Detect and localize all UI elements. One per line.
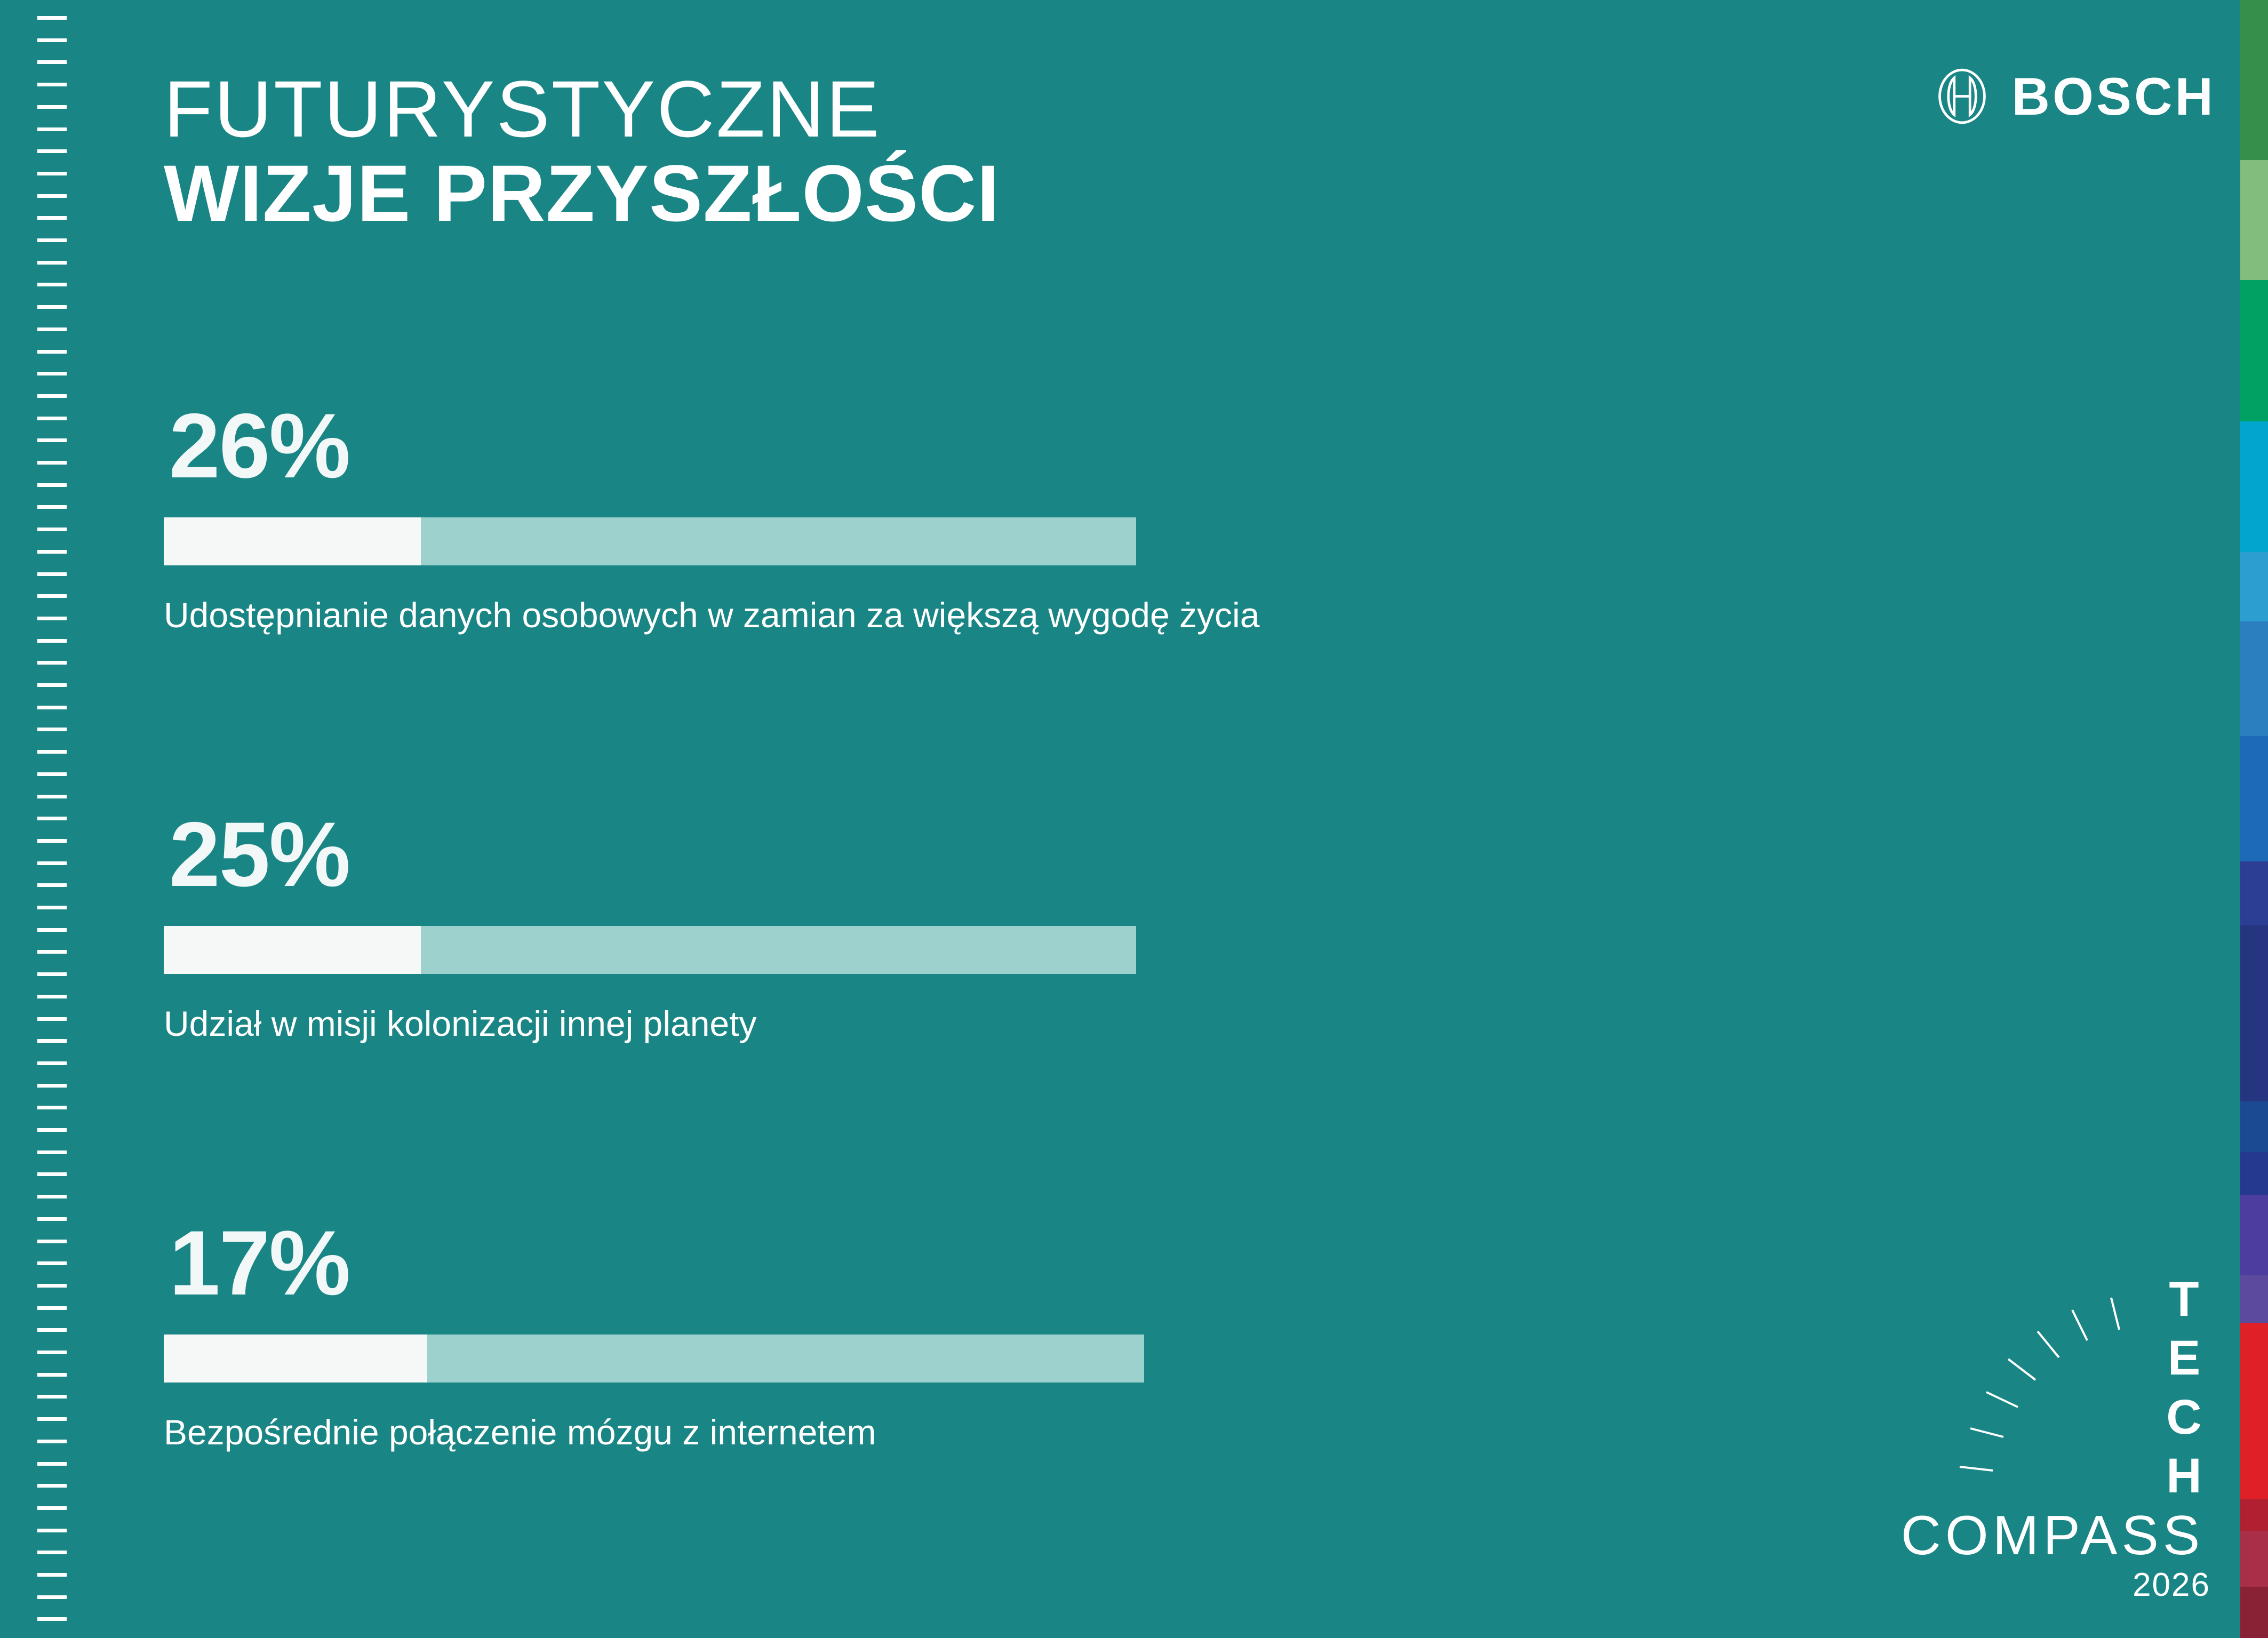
ruler-tick: [37, 772, 67, 776]
ruler-tick: [37, 1195, 67, 1198]
ruler-tick: [37, 1595, 67, 1599]
color-band: [2240, 736, 2268, 861]
color-band: [2240, 925, 2268, 1101]
left-edge-ruler: [0, 0, 75, 1638]
stat-bar-track: [164, 1335, 1144, 1383]
ruler-tick: [37, 327, 67, 331]
ruler-tick: [37, 1506, 67, 1510]
ruler-tick: [37, 817, 67, 820]
ruler-tick: [37, 127, 67, 131]
ruler-tick: [37, 1351, 67, 1354]
ruler-tick: [37, 149, 67, 153]
ruler-tick: [37, 950, 67, 954]
stat-caption: Bezpośrednie połączenie mózgu z internet…: [164, 1412, 1144, 1452]
ruler-tick: [37, 1306, 67, 1310]
ruler-tick: [37, 1106, 67, 1109]
ruler-tick: [37, 1484, 67, 1488]
ruler-tick: [37, 795, 67, 798]
ruler-tick: [37, 1084, 67, 1088]
color-band: [2240, 1152, 2268, 1195]
stat-bar-track: [164, 926, 1136, 974]
stat-block: 17%Bezpośrednie połączenie mózgu z inter…: [164, 1217, 1144, 1452]
tech-letter: C: [2157, 1388, 2213, 1447]
tech-letter: E: [2157, 1329, 2213, 1387]
ruler-tick: [37, 461, 67, 465]
ruler-tick: [37, 1172, 67, 1176]
stat-value: 17%: [169, 1217, 1144, 1309]
ruler-tick: [37, 661, 67, 665]
ruler-tick: [37, 105, 67, 109]
stat-bar-fill: [164, 517, 421, 565]
ruler-tick: [37, 1150, 67, 1154]
ruler-tick: [37, 1039, 67, 1043]
ruler-tick: [37, 617, 67, 620]
bosch-logo: BOSCH: [1934, 68, 2216, 124]
ruler-tick: [37, 1551, 67, 1554]
compass-year: 2026: [2133, 1569, 2210, 1602]
page-title-line-2: WIZJE PRZYSZŁOŚCI: [164, 150, 1444, 236]
stat-bar-fill: [164, 926, 421, 974]
ruler-tick: [37, 995, 67, 998]
color-band: [2240, 1195, 2268, 1275]
ruler-tick: [37, 728, 67, 731]
ruler-tick: [37, 238, 67, 242]
ruler-tick: [37, 928, 67, 932]
tech-compass-logo: TECH COMPASS 2026: [1892, 1260, 2213, 1602]
ruler-tick: [37, 706, 67, 709]
ruler-tick: [37, 1217, 67, 1221]
ruler-tick: [37, 505, 67, 509]
color-band: [2240, 160, 2268, 280]
stat-block: 26%Udostępnianie danych osobowych w zami…: [164, 400, 1259, 635]
ruler-tick: [37, 550, 67, 554]
ruler-tick: [37, 572, 67, 576]
ruler-tick: [37, 60, 67, 64]
ruler-tick: [37, 483, 67, 487]
ruler-tick: [37, 1373, 67, 1377]
ruler-tick: [37, 417, 67, 420]
color-spectrum-strip: [2240, 0, 2268, 1638]
ruler-tick: [37, 839, 67, 843]
ruler-tick: [37, 883, 67, 887]
color-band: [2240, 280, 2268, 421]
color-band: [2240, 621, 2268, 736]
page-title: FUTURYSTYCZNE WIZJE PRZYSZŁOŚCI: [164, 68, 1444, 236]
ruler-tick: [37, 1395, 67, 1399]
ruler-tick: [37, 1061, 67, 1065]
tech-letter: T: [2157, 1270, 2213, 1329]
color-band: [2240, 1499, 2268, 1531]
ruler-tick: [37, 350, 67, 354]
ruler-tick: [37, 1440, 67, 1443]
ruler-tick: [37, 1017, 67, 1021]
ruler-tick: [37, 594, 67, 598]
ruler-tick: [37, 261, 67, 265]
color-band: [2240, 1275, 2268, 1323]
ruler-tick: [37, 1328, 67, 1332]
stat-caption: Udostępnianie danych osobowych w zamian …: [164, 595, 1259, 635]
ruler-tick: [37, 394, 67, 398]
color-band: [2240, 0, 2268, 160]
color-band: [2240, 421, 2268, 552]
tech-letter: H: [2157, 1447, 2213, 1505]
ruler-tick: [37, 283, 67, 286]
ruler-tick: [37, 972, 67, 976]
bosch-anchor-icon: [1934, 68, 1990, 124]
color-band: [2240, 1587, 2268, 1638]
stat-value: 26%: [169, 400, 1259, 492]
stat-bar-track: [164, 517, 1136, 565]
stat-block: 25%Udział w misji kolonizacji innej plan…: [164, 809, 1136, 1044]
ruler-tick: [37, 750, 67, 754]
ruler-tick: [37, 639, 67, 643]
color-band: [2240, 861, 2268, 925]
color-band: [2240, 1323, 2268, 1499]
ruler-tick: [37, 1128, 67, 1132]
tech-wordmark: TECH: [2157, 1270, 2213, 1506]
stat-value: 25%: [169, 809, 1136, 900]
ruler-tick: [37, 38, 67, 42]
ruler-tick: [37, 16, 67, 20]
ruler-tick: [37, 216, 67, 220]
ruler-tick: [37, 1284, 67, 1288]
compass-wordmark: COMPASS: [1892, 1508, 2213, 1563]
ruler-tick: [37, 305, 67, 309]
ruler-tick: [37, 1573, 67, 1577]
stat-bar-fill: [164, 1335, 427, 1383]
ruler-tick: [37, 438, 67, 442]
ruler-tick: [37, 194, 67, 198]
ruler-tick: [37, 1617, 67, 1621]
ruler-tick: [37, 1240, 67, 1243]
bosch-wordmark: BOSCH: [2011, 70, 2216, 123]
ruler-tick: [37, 172, 67, 175]
ruler-tick: [37, 1417, 67, 1421]
page-title-line-1: FUTURYSTYCZNE: [164, 68, 1444, 150]
ruler-tick: [37, 1462, 67, 1466]
ruler-tick: [37, 683, 67, 687]
color-band: [2240, 1531, 2268, 1587]
ruler-tick: [37, 372, 67, 375]
ruler-tick: [37, 861, 67, 865]
color-band: [2240, 552, 2268, 621]
ruler-tick: [37, 1529, 67, 1532]
ruler-tick: [37, 528, 67, 531]
stat-caption: Udział w misji kolonizacji innej planety: [164, 1003, 1136, 1044]
ruler-tick: [37, 83, 67, 86]
ruler-tick: [37, 906, 67, 909]
ruler-tick: [37, 1261, 67, 1265]
color-band: [2240, 1101, 2268, 1152]
